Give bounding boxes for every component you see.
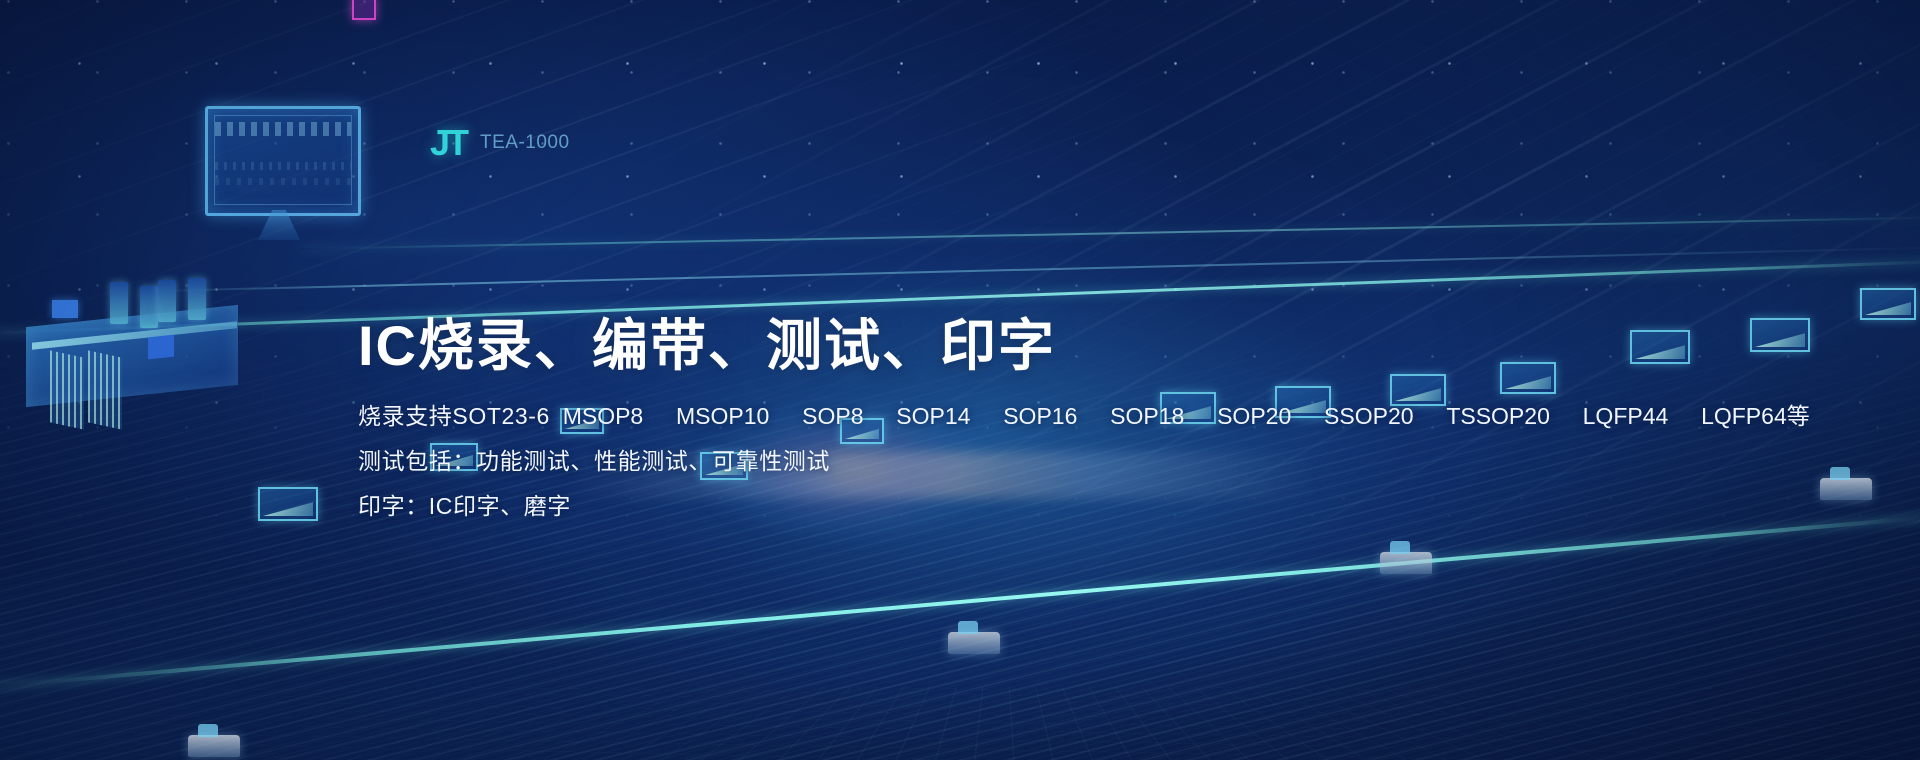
machine-cylinder (110, 282, 128, 324)
package-item: SOP18 (1110, 403, 1184, 429)
package-item: MSOP8 (563, 403, 644, 429)
machine-fin (50, 350, 84, 429)
monitor-illustration (205, 106, 361, 216)
package-list: MSOP8 MSOP10 SOP8 SOP14 SOP16 SOP18 SOP2… (550, 403, 1787, 429)
transport-cart (948, 632, 1000, 654)
package-item: SOP14 (896, 403, 970, 429)
machine-cylinder (140, 286, 158, 328)
screen-tile (258, 487, 318, 521)
screen-tile (1860, 288, 1916, 320)
package-item: LQFP44 (1583, 403, 1669, 429)
burn-support-line: 烧录支持SOT23-6 MSOP8 MSOP10 SOP8 SOP14 SOP1… (358, 405, 1608, 428)
screen-tile (1630, 330, 1690, 364)
package-item: TSSOP20 (1446, 403, 1550, 429)
package-item: LQFP64 (1701, 403, 1787, 429)
machine-cylinder (158, 280, 176, 322)
hero-banner: JT TEA-1000 IC烧录、编带、测试、印字 烧录支持SOT23-6 MS… (0, 0, 1920, 760)
screen-tile (1750, 318, 1810, 352)
transport-cart (188, 735, 240, 757)
magenta-marker-chip (352, 0, 376, 20)
machine-illustration (10, 258, 260, 433)
machine-model-label: TEA-1000 (480, 133, 570, 152)
package-item: MSOP10 (676, 403, 769, 429)
package-item: SSOP20 (1324, 403, 1414, 429)
transport-cart (1820, 478, 1872, 500)
testing-line: 测试包括：功能测试、性能测试、可靠性测试 (358, 450, 1608, 473)
transport-cart (1380, 552, 1432, 574)
burn-support-prefix: 烧录支持SOT23-6 (358, 403, 550, 429)
burn-support-suffix: 等 (1787, 403, 1811, 429)
package-item: SOP20 (1217, 403, 1291, 429)
machine-fin (88, 350, 122, 429)
jt-logo: JT (430, 125, 466, 161)
monitor-screen-content (214, 115, 352, 205)
machine-control-box (148, 335, 174, 360)
machine-cylinder (188, 278, 206, 320)
marking-line: 印字：IC印字、磨字 (358, 495, 1608, 518)
package-item: SOP16 (1003, 403, 1077, 429)
page-title: IC烧录、编带、测试、印字 (358, 312, 1608, 379)
machine-control-box (52, 300, 78, 318)
package-item: SOP8 (802, 403, 863, 429)
hero-text-block: IC烧录、编带、测试、印字 烧录支持SOT23-6 MSOP8 MSOP10 S… (358, 312, 1608, 518)
